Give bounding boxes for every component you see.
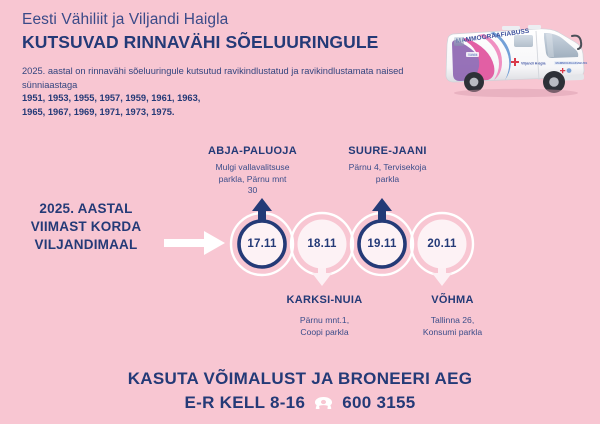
callout-line-2: VIIMAST KORDA xyxy=(12,218,160,236)
stop-address-line-2: parkla xyxy=(325,174,450,186)
stop-city-name: KARKSI-NUIA xyxy=(262,294,387,306)
poster-canvas: Eesti Vähiliit ja Viljandi Haigla KUTSUV… xyxy=(0,0,600,424)
stop-address-line-1: Mulgi vallavalitsuse xyxy=(190,162,315,174)
stop-address-line-3: 30 xyxy=(190,185,315,197)
stop-address: Pärnu mnt.1, Coopi parkla xyxy=(262,315,387,338)
stop-address-line-2: Konsumi parkla xyxy=(390,327,515,339)
stop-caption-vohma: VÕHMA Tallinna 26, Konsumi parkla xyxy=(390,294,515,338)
mammography-bus-image: MAMMOGRAAFIABUSS Vähiliit Viljandi Haigl… xyxy=(432,14,592,102)
header-block: Eesti Vähiliit ja Viljandi Haigla KUTSUV… xyxy=(22,10,452,119)
svg-text:MAMMOGRAAFIABUSS: MAMMOGRAAFIABUSS xyxy=(556,61,588,65)
timeline-pin-17-11[interactable]: 17.11 xyxy=(234,198,290,270)
timeline-pin-20-11[interactable]: 20.11 xyxy=(414,214,470,286)
stop-address-line-1: Tallinna 26, xyxy=(390,315,515,327)
route-timeline: 17.11 18.11 19.11 20.11 xyxy=(224,198,484,298)
footer-call-to-action: KASUTA VÕIMALUST JA BRONEERI AEG xyxy=(0,368,600,391)
stop-address-line-1: Pärnu mnt.1, xyxy=(262,315,387,327)
header-title: KUTSUVAD RINNAVÄHI SÕELUURINGULE xyxy=(22,31,452,54)
header-subtitle: Eesti Vähiliit ja Viljandi Haigla xyxy=(22,10,452,29)
timeline-pin-19-11[interactable]: 19.11 xyxy=(354,198,410,270)
stop-city-name: VÕHMA xyxy=(390,294,515,306)
header-body: 2025. aastal on rinnavähi sõeluuringule … xyxy=(22,65,422,119)
stop-caption-suure-jaani: SUURE-JAANI Pärnu 4, Tervisekoja parkla xyxy=(325,145,450,185)
stop-caption-abja-paluoja: ABJA-PALUOJA Mulgi vallavalitsuse parkla… xyxy=(190,145,315,197)
stop-address-line-1: Pärnu 4, Tervisekoja xyxy=(325,162,450,174)
timeline-pin-date: 19.11 xyxy=(354,218,410,270)
timeline-pin-date: 17.11 xyxy=(234,218,290,270)
stop-address: Mulgi vallavalitsuse parkla, Pärnu mnt 3… xyxy=(190,162,315,197)
footer-opening-hours: E-R KELL 8-16 xyxy=(184,392,305,415)
header-body-line-1: 2025. aastal on rinnavähi sõeluuringule … xyxy=(22,66,299,76)
stop-address: Tallinna 26, Konsumi parkla xyxy=(390,315,515,338)
bus-illustration: MAMMOGRAAFIABUSS Vähiliit Viljandi Haigl… xyxy=(432,14,592,102)
stop-city-name: ABJA-PALUOJA xyxy=(190,145,315,157)
footer-block: KASUTA VÕIMALUST JA BRONEERI AEG E-R KEL… xyxy=(0,368,600,415)
footer-phone-number: 600 3155 xyxy=(342,392,415,415)
stop-address-line-2: parkla, Pärnu mnt xyxy=(190,174,315,186)
birth-years-line-1: 1951, 1953, 1955, 1957, 1959, 1961, 1963… xyxy=(22,92,422,105)
stop-caption-karksi-nuia: KARKSI-NUIA Pärnu mnt.1, Coopi parkla xyxy=(262,294,387,338)
stop-city-name: SUURE-JAANI xyxy=(325,145,450,157)
callout-text-block: 2025. AASTAL VIIMAST KORDA VILJANDIMAAL xyxy=(12,200,160,253)
timeline-pin-date: 18.11 xyxy=(294,218,350,270)
callout-line-3: VILJANDIMAAL xyxy=(12,236,160,254)
birth-years-line-2: 1965, 1967, 1969, 1971, 1973, 1975. xyxy=(22,106,422,119)
footer-contact-row: E-R KELL 8-16 600 3155 xyxy=(0,392,600,415)
telephone-icon xyxy=(314,396,333,411)
svg-text:Vähiliit: Vähiliit xyxy=(468,53,478,57)
timeline-pin-18-11[interactable]: 18.11 xyxy=(294,214,350,286)
stop-address-line-2: Coopi parkla xyxy=(262,327,387,339)
arrow-right-icon xyxy=(164,228,226,258)
callout-line-1: 2025. AASTAL xyxy=(12,200,160,218)
timeline-pin-date: 20.11 xyxy=(414,218,470,270)
stop-address: Pärnu 4, Tervisekoja parkla xyxy=(325,162,450,185)
svg-text:Viljandi Haigla: Viljandi Haigla xyxy=(521,61,546,65)
